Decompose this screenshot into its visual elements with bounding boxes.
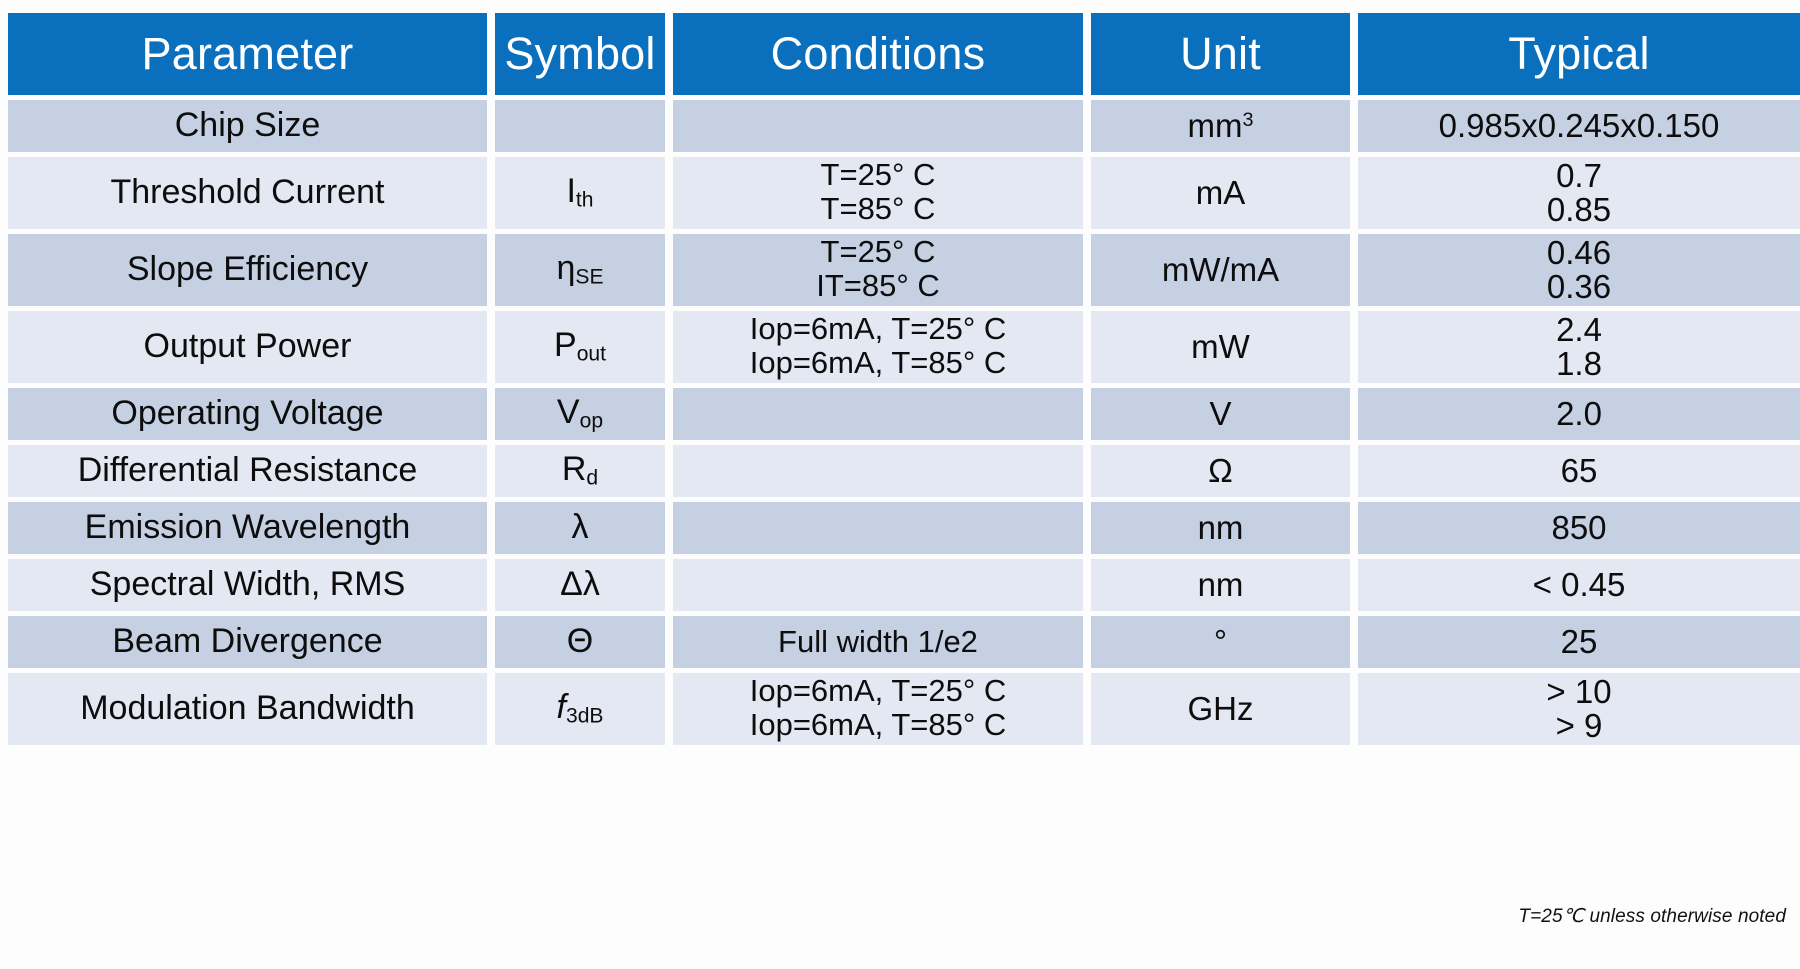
cell-typical: 850 [1358, 502, 1800, 554]
table-row: Slope Efficiency ηSE T=25° C IT=85° C mW… [8, 234, 1800, 306]
table-row: Threshold Current Ith T=25° C T=85° C mA… [8, 157, 1800, 229]
cell-symbol: Ith [495, 157, 665, 229]
typical-line-2: > 9 [1358, 709, 1800, 743]
cell-parameter: Output Power [8, 311, 487, 383]
cell-conditions [673, 388, 1083, 440]
symbol-base: V [557, 393, 580, 431]
unit-exponent: 3 [1242, 109, 1253, 131]
condition-line-2: Iop=6mA, T=85° C [673, 347, 1083, 379]
cell-conditions [673, 100, 1083, 152]
cell-symbol: λ [495, 502, 665, 554]
column-header-conditions: Conditions [673, 13, 1083, 95]
cell-symbol: Δλ [495, 559, 665, 611]
column-header-symbol: Symbol [495, 13, 665, 95]
symbol-base: f [557, 688, 566, 726]
unit-base: mm [1188, 107, 1243, 144]
cell-typical: 65 [1358, 445, 1800, 497]
table-row: Beam Divergence Θ Full width 1/e2 ° 25 [8, 616, 1800, 668]
cell-typical: 0.985x0.245x0.150 [1358, 100, 1800, 152]
cell-unit: mW [1091, 311, 1350, 383]
table-row: Output Power Pout Iop=6mA, T=25° C Iop=6… [8, 311, 1800, 383]
table-header-row: Parameter Symbol Conditions Unit Typical [8, 13, 1800, 95]
cell-symbol: Rd [495, 445, 665, 497]
typical-line-2: 0.85 [1358, 193, 1800, 227]
cell-unit: nm [1091, 502, 1350, 554]
cell-unit: mA [1091, 157, 1350, 229]
cell-unit: Ω [1091, 445, 1350, 497]
symbol-base: η [556, 249, 575, 287]
cell-typical: 2.4 1.8 [1358, 311, 1800, 383]
cell-symbol: Pout [495, 311, 665, 383]
cell-conditions [673, 502, 1083, 554]
condition-line-1: T=25° C [673, 159, 1083, 191]
cell-parameter: Threshold Current [8, 157, 487, 229]
cell-unit: ° [1091, 616, 1350, 668]
table-row: Differential Resistance Rd Ω 65 [8, 445, 1800, 497]
cell-parameter: Slope Efficiency [8, 234, 487, 306]
cell-parameter: Modulation Bandwidth [8, 673, 487, 745]
cell-unit: nm [1091, 559, 1350, 611]
table-row: Spectral Width, RMS Δλ nm < 0.45 [8, 559, 1800, 611]
cell-typical: > 10 > 9 [1358, 673, 1800, 745]
condition-line-1: Iop=6mA, T=25° C [673, 675, 1083, 707]
symbol-base: I [566, 172, 575, 210]
cell-symbol: Vop [495, 388, 665, 440]
column-header-parameter: Parameter [8, 13, 487, 95]
cell-symbol [495, 100, 665, 152]
condition-line-1: T=25° C [673, 236, 1083, 268]
symbol-subscript: d [586, 467, 598, 490]
typical-line-1: 2.4 [1358, 313, 1800, 347]
cell-typical: < 0.45 [1358, 559, 1800, 611]
table-row: Modulation Bandwidth f3dB Iop=6mA, T=25°… [8, 673, 1800, 745]
cell-conditions: T=25° C T=85° C [673, 157, 1083, 229]
table-row: Emission Wavelength λ nm 850 [8, 502, 1800, 554]
typical-line-1: 0.7 [1358, 159, 1800, 193]
cell-typical: 0.46 0.36 [1358, 234, 1800, 306]
typical-line-1: 0.985x0.245x0.150 [1439, 107, 1720, 144]
symbol-subscript: th [576, 189, 594, 212]
cell-parameter: Chip Size [8, 100, 487, 152]
column-header-unit: Unit [1091, 13, 1350, 95]
cell-typical: 25 [1358, 616, 1800, 668]
symbol-subscript: out [577, 343, 606, 366]
cell-symbol: f3dB [495, 673, 665, 745]
cell-conditions [673, 445, 1083, 497]
table-row: Chip Size mm3 0.985x0.245x0.150 [8, 100, 1800, 152]
cell-symbol: Θ [495, 616, 665, 668]
cell-parameter: Differential Resistance [8, 445, 487, 497]
symbol-subscript: SE [575, 266, 603, 289]
cell-unit: mm3 [1091, 100, 1350, 152]
cell-unit: mW/mA [1091, 234, 1350, 306]
symbol-subscript: op [580, 410, 603, 433]
cell-parameter: Spectral Width, RMS [8, 559, 487, 611]
cell-conditions: T=25° C IT=85° C [673, 234, 1083, 306]
condition-line-2: IT=85° C [673, 270, 1083, 302]
cell-symbol: ηSE [495, 234, 665, 306]
condition-line-1: Iop=6mA, T=25° C [673, 313, 1083, 345]
cell-parameter: Beam Divergence [8, 616, 487, 668]
cell-unit: V [1091, 388, 1350, 440]
condition-line-2: T=85° C [673, 193, 1083, 225]
cell-parameter: Emission Wavelength [8, 502, 487, 554]
cell-typical: 0.7 0.85 [1358, 157, 1800, 229]
symbol-base: P [554, 326, 577, 364]
cell-conditions [673, 559, 1083, 611]
typical-line-2: 1.8 [1358, 347, 1800, 381]
condition-line-2: Iop=6mA, T=85° C [673, 709, 1083, 741]
typical-line-1: 0.46 [1358, 236, 1800, 270]
typical-line-1: > 10 [1358, 675, 1800, 709]
cell-typical: 2.0 [1358, 388, 1800, 440]
specification-table: Parameter Symbol Conditions Unit Typical… [0, 8, 1800, 750]
cell-unit: GHz [1091, 673, 1350, 745]
table-footnote: T=25℃ unless otherwise noted [1518, 905, 1786, 928]
cell-parameter: Operating Voltage [8, 388, 487, 440]
column-header-typical: Typical [1358, 13, 1800, 95]
typical-line-2: 0.36 [1358, 270, 1800, 304]
symbol-base: R [562, 450, 587, 488]
cell-conditions: Iop=6mA, T=25° C Iop=6mA, T=85° C [673, 673, 1083, 745]
table-body: Chip Size mm3 0.985x0.245x0.150 Threshol… [8, 100, 1800, 745]
table-row: Operating Voltage Vop V 2.0 [8, 388, 1800, 440]
cell-conditions: Iop=6mA, T=25° C Iop=6mA, T=85° C [673, 311, 1083, 383]
symbol-subscript: 3dB [566, 705, 604, 728]
cell-conditions: Full width 1/e2 [673, 616, 1083, 668]
